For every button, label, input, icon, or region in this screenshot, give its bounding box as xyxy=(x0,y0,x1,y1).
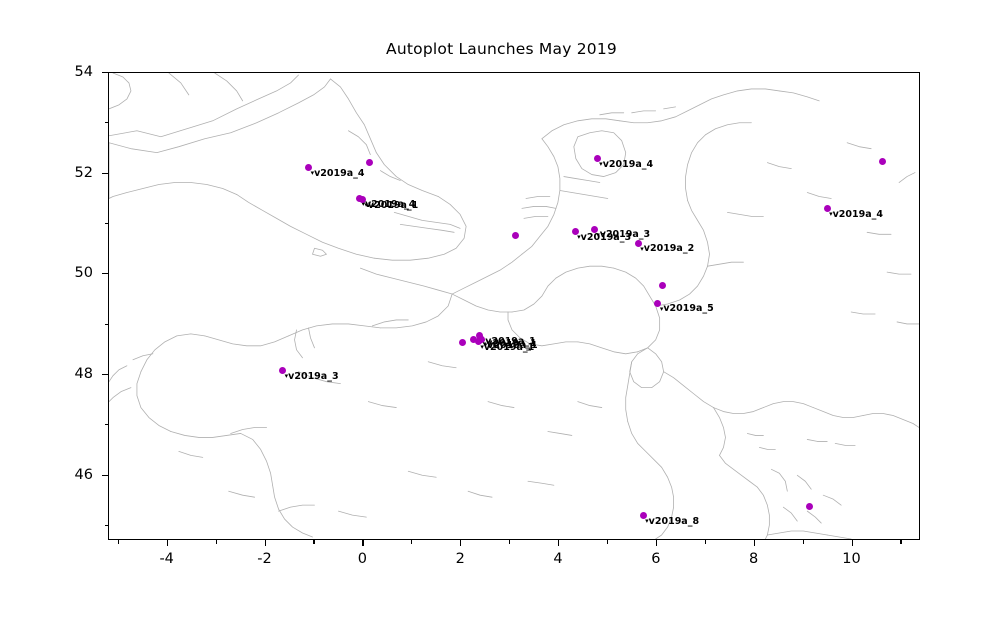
x-axis-tick-label: 6 xyxy=(651,551,660,567)
x-axis-tick-label: 2 xyxy=(456,551,465,567)
x-axis-minor-tick xyxy=(705,540,706,544)
y-axis-tick xyxy=(102,72,108,73)
scatter-points-layer: v2019a_4v2019a_4v2019a_1v2019a_4v2019a_4… xyxy=(109,73,919,539)
x-axis-tick xyxy=(558,540,559,546)
x-axis-minor-tick xyxy=(118,540,119,544)
scatter-point-label: v2019a_8 xyxy=(645,517,699,527)
y-axis-tick-label: 52 xyxy=(0,165,93,181)
scatter-marker-icon xyxy=(879,158,886,165)
x-axis-tick-label: 0 xyxy=(358,551,367,567)
scatter-point-label: v2019a_3 xyxy=(285,372,339,382)
x-axis-minor-tick xyxy=(411,540,412,544)
x-axis-minor-tick xyxy=(607,540,608,544)
x-axis-tick xyxy=(460,540,461,546)
x-axis-tick-label: 10 xyxy=(842,551,860,567)
y-axis-minor-tick xyxy=(105,424,109,425)
x-axis-tick xyxy=(167,540,168,546)
y-axis-tick xyxy=(102,374,108,375)
x-axis-tick xyxy=(852,540,853,546)
x-axis-tick xyxy=(265,540,266,546)
scatter-marker-icon xyxy=(512,232,519,239)
scatter-point-label: v2019a_4 xyxy=(829,210,883,220)
y-axis-tick-label: 50 xyxy=(0,265,93,281)
y-axis-minor-tick xyxy=(105,223,109,224)
scatter-point-label: v2019a_4 xyxy=(311,169,365,179)
y-axis-tick-label: 54 xyxy=(0,64,93,80)
y-axis-tick-label: 46 xyxy=(0,467,93,483)
x-axis-tick-label: 4 xyxy=(553,551,562,567)
y-axis-minor-tick xyxy=(105,122,109,123)
y-axis-minor-tick xyxy=(105,525,109,526)
scatter-marker-icon xyxy=(659,282,666,289)
x-axis-minor-tick xyxy=(313,540,314,544)
plot-area: v2019a_4v2019a_4v2019a_1v2019a_4v2019a_4… xyxy=(108,72,920,540)
y-axis-tick xyxy=(102,273,108,274)
scatter-point-label: v2019a_4 xyxy=(599,160,653,170)
x-axis-minor-tick xyxy=(509,540,510,544)
x-axis-tick-label: 8 xyxy=(749,551,758,567)
x-axis-tick xyxy=(362,540,363,546)
x-axis-minor-tick xyxy=(803,540,804,544)
y-axis-tick xyxy=(102,173,108,174)
scatter-marker-icon xyxy=(470,336,477,343)
scatter-marker-icon xyxy=(459,339,466,346)
scatter-marker-icon xyxy=(366,159,373,166)
scatter-point-label: v2019a_5 xyxy=(660,304,714,314)
scatter-point-label: v2019a_1 xyxy=(364,201,418,211)
page-title: Autoplot Launches May 2019 xyxy=(0,40,1003,58)
scatter-point-label: v2019a_1 xyxy=(480,343,534,353)
y-axis-minor-tick xyxy=(105,324,109,325)
scatter-point-label: v2019a_3 xyxy=(596,230,650,240)
x-axis-tick-label: -4 xyxy=(159,551,173,567)
x-axis-tick xyxy=(656,540,657,546)
y-axis-tick-label: 48 xyxy=(0,366,93,382)
x-axis-minor-tick xyxy=(216,540,217,544)
scatter-point-label: v2019a_2 xyxy=(640,244,694,254)
x-axis-minor-tick xyxy=(900,540,901,544)
x-axis-tick xyxy=(754,540,755,546)
scatter-marker-icon xyxy=(806,503,813,510)
x-axis-tick-label: -2 xyxy=(257,551,271,567)
y-axis-tick xyxy=(102,475,108,476)
figure-canvas: Autoplot Launches May 2019 xyxy=(0,0,1003,633)
